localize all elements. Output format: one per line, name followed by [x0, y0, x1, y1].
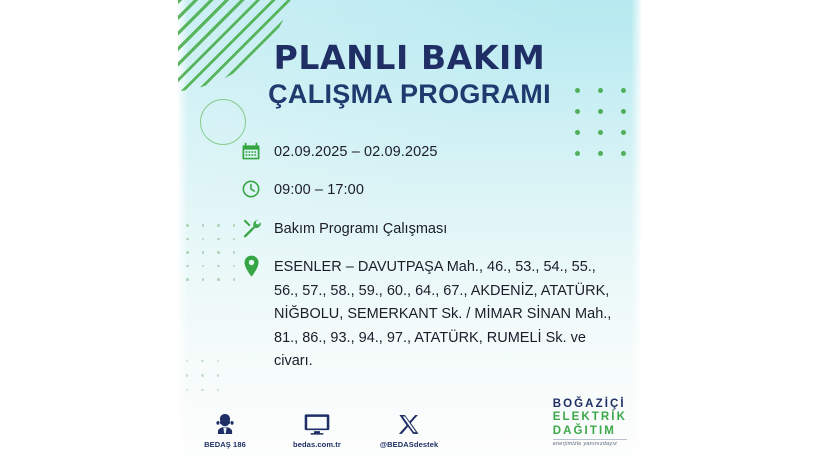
info-row-location: ESENLER – DAVUTPAŞA Mah., 46., 53., 54.,…	[240, 255, 623, 373]
x-twitter-icon	[378, 410, 440, 436]
calendar-icon	[240, 140, 262, 162]
contact-label: BEDAŞ 186	[194, 440, 256, 449]
info-row-work-type: Bakım Programı Çalışması	[240, 217, 623, 241]
location-pin-icon	[240, 255, 262, 277]
contact-list: BEDAŞ 186 bedas.com.tr	[194, 410, 440, 449]
clock-icon	[240, 178, 262, 200]
page-title: PLANLI BAKIM	[178, 38, 641, 77]
maintenance-notice-card: PLANLI BAKIM ÇALIŞMA PROGRAMI 02.09.2025…	[178, 0, 641, 461]
logo-tagline: enerjimizle yanınızdayız	[553, 439, 627, 447]
location-text: ESENLER – DAVUTPAŞA Mah., 46., 53., 54.,…	[274, 255, 623, 373]
work-type-text: Bakım Programı Çalışması	[274, 217, 447, 241]
dot-grid-left-decoration	[186, 224, 235, 281]
info-row-date: 02.09.2025 – 02.09.2025	[240, 140, 623, 164]
monitor-icon	[286, 410, 348, 436]
logo-line-2: ELEKTRİK	[553, 411, 627, 424]
contact-label: bedas.com.tr	[286, 440, 348, 449]
contact-website[interactable]: bedas.com.tr	[286, 410, 348, 449]
info-row-time: 09:00 – 17:00	[240, 178, 623, 202]
contact-label: @BEDASdestek	[378, 440, 440, 449]
logo-line-3: DAĞITIM	[553, 425, 627, 438]
screenshot-root: PLANLI BAKIM ÇALIŞMA PROGRAMI 02.09.2025…	[0, 0, 820, 461]
logo-line-1: BOĞAZİÇİ	[553, 398, 627, 411]
time-range-text: 09:00 – 17:00	[274, 178, 364, 202]
call-center-agent-icon	[194, 410, 256, 436]
bedas-logo: BOĞAZİÇİ ELEKTRİK DAĞITIM enerjimizle ya…	[553, 398, 627, 447]
footer: BEDAŞ 186 bedas.com.tr	[178, 395, 641, 453]
info-list: 02.09.2025 – 02.09.2025 09:00 – 17:00	[240, 140, 623, 388]
date-range-text: 02.09.2025 – 02.09.2025	[274, 140, 438, 164]
dot-grid-bottom-decoration	[186, 360, 219, 391]
contact-call-center[interactable]: BEDAŞ 186	[194, 410, 256, 449]
contact-x-twitter[interactable]: @BEDASdestek	[378, 410, 440, 449]
tools-icon	[240, 217, 262, 239]
page-subtitle: ÇALIŞMA PROGRAMI	[178, 79, 641, 110]
